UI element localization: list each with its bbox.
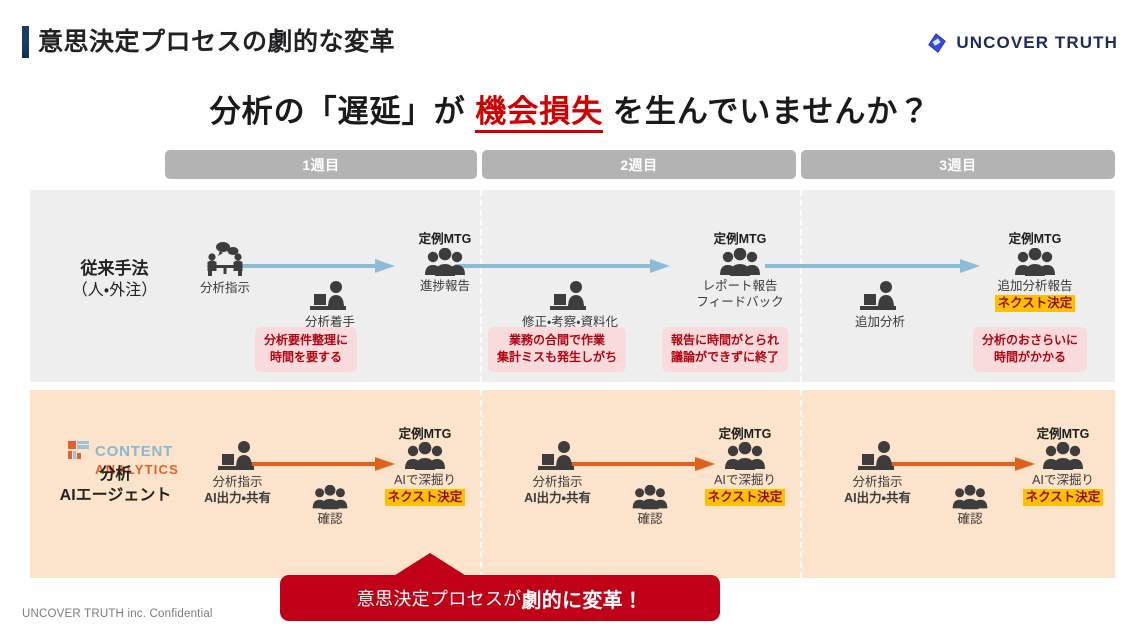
legacy-node-7-mtg: 定例MTG bbox=[970, 228, 1100, 247]
ai-node-9-caption: AIで深掘り bbox=[998, 472, 1128, 488]
person-laptop-icon bbox=[310, 280, 350, 314]
ai-node-3-mtg: 定例MTG bbox=[360, 423, 490, 442]
meeting-discussion-icon bbox=[203, 240, 247, 280]
headline-part1: 分析の「遅延」が bbox=[210, 94, 476, 129]
title-accent-bar bbox=[22, 26, 29, 58]
legacy-node-3: 進捗報告 bbox=[385, 248, 505, 294]
conclusion-ribbon: 意思決定プロセスが劇的に変革！ bbox=[280, 549, 720, 621]
ai-row-label: 分析 AIエージェント bbox=[38, 464, 193, 506]
legacy-node-3-mtg: 定例MTG bbox=[385, 228, 505, 247]
people-group-icon bbox=[310, 485, 350, 511]
ai-node-6: AIで深掘り ネクスト決定 bbox=[680, 442, 810, 506]
ai-node-4-caption-2: AI出力・共有 bbox=[500, 490, 615, 506]
ai-label-line2: AIエージェント bbox=[38, 485, 193, 506]
legacy-node-6: 追加分析 bbox=[825, 280, 935, 330]
ai-node-8-caption: 確認 bbox=[925, 511, 1015, 527]
legacy-node-3-caption: 進捗報告 bbox=[385, 278, 505, 294]
week-header-1: 1週目 bbox=[165, 150, 477, 179]
legacy-node-7-caption: 追加分析報告 bbox=[970, 278, 1100, 294]
ai-node-7-caption-1: 分析指示 bbox=[820, 474, 935, 490]
content-analytics-logo-icon bbox=[68, 440, 90, 462]
headline-part2: を生んでいませんか？ bbox=[603, 94, 930, 129]
legacy-node-4: 修正・考察・資料化 bbox=[500, 280, 640, 330]
legacy-node-5-mtg: 定例MTG bbox=[675, 228, 805, 247]
legacy-node-5-caption-1: レポート報告 bbox=[675, 278, 805, 294]
week-header-2: 2週目 bbox=[482, 150, 796, 179]
people-group-icon bbox=[402, 442, 448, 472]
legacy-node-6-caption: 追加分析 bbox=[825, 314, 935, 330]
ribbon-text-normal: 意思決定プロセスが bbox=[357, 585, 522, 611]
legacy-note-1: 分析要件整理に 時間を要する bbox=[255, 327, 357, 372]
ai-node-6-caption: AIで深掘り bbox=[680, 472, 810, 488]
ai-node-1: 分析指示 AI出力・共有 bbox=[180, 440, 295, 506]
week-header-3: 3週目 bbox=[801, 150, 1115, 179]
ribbon-text: 意思決定プロセスが劇的に変革！ bbox=[280, 575, 720, 621]
person-laptop-icon bbox=[860, 280, 900, 314]
brand-logo: UNCOVER TRUTH bbox=[926, 32, 1118, 54]
ai-node-7-caption-2: AI出力・共有 bbox=[820, 490, 935, 506]
ai-node-7: 分析指示 AI出力・共有 bbox=[820, 440, 935, 506]
ai-node-6-mtg: 定例MTG bbox=[680, 423, 810, 442]
legacy-node-5: レポート報告 フィードバック bbox=[675, 248, 805, 310]
legacy-note-2: 業務の合間で作業 集計ミスも発生しがち bbox=[488, 327, 626, 372]
legacy-note-2-line1: 業務の合間で作業 bbox=[497, 332, 617, 349]
footer-confidential: UNCOVER TRUTH inc. Confidential bbox=[22, 608, 213, 620]
legacy-note-3-line2: 議論ができずに終了 bbox=[671, 349, 779, 366]
legacy-node-5-caption-2: フィードバック bbox=[675, 294, 805, 310]
legacy-note-1-line1: 分析要件整理に bbox=[264, 332, 348, 349]
legacy-node-2: 分析着手 bbox=[275, 280, 385, 330]
legacy-note-4-line2: 時間がかかる bbox=[982, 349, 1078, 366]
legacy-node-1-caption: 分析指示 bbox=[180, 280, 270, 296]
ai-node-2-caption: 確認 bbox=[285, 511, 375, 527]
ai-node-3-badge: ネクスト決定 bbox=[385, 489, 466, 506]
ai-node-6-badge: ネクスト決定 bbox=[705, 489, 786, 506]
legacy-label-line2: （人・外注） bbox=[52, 280, 177, 301]
people-group-icon bbox=[722, 442, 768, 472]
legacy-process-row: 従来手法 （人・外注） bbox=[30, 190, 1115, 382]
headline-highlight: 機会損失 bbox=[475, 94, 603, 133]
ai-node-3: AIで深掘り ネクスト決定 bbox=[360, 442, 490, 506]
people-group-icon bbox=[717, 248, 763, 278]
ai-node-3-caption: AIで深掘り bbox=[360, 472, 490, 488]
people-group-icon bbox=[950, 485, 990, 511]
ai-node-4: 分析指示 AI出力・共有 bbox=[500, 440, 615, 506]
legacy-node-7: 追加分析報告 ネクスト決定 bbox=[970, 248, 1100, 312]
diamond-logo-icon bbox=[926, 32, 948, 54]
ai-node-5-caption: 確認 bbox=[605, 511, 695, 527]
legacy-row-label: 従来手法 （人・外注） bbox=[52, 258, 177, 302]
ai-node-9: AIで深掘り ネクスト決定 bbox=[998, 442, 1128, 506]
legacy-note-1-line2: 時間を要する bbox=[264, 349, 348, 366]
legacy-note-2-line2: 集計ミスも発生しがち bbox=[497, 349, 617, 366]
ca-logo-word-1: CONTENT bbox=[95, 443, 173, 460]
ai-node-4-caption-1: 分析指示 bbox=[500, 474, 615, 490]
person-laptop-icon bbox=[858, 440, 898, 474]
ai-node-1-caption-2: AI出力・共有 bbox=[180, 490, 295, 506]
person-laptop-icon bbox=[218, 440, 258, 474]
legacy-node-1: 分析指示 bbox=[180, 240, 270, 296]
person-laptop-icon bbox=[538, 440, 578, 474]
legacy-note-3-line1: 報告に時間がとられ bbox=[671, 332, 779, 349]
brand-name: UNCOVER TRUTH bbox=[956, 33, 1118, 53]
legacy-note-4: 分析のおさらいに 時間がかかる bbox=[973, 327, 1087, 372]
ai-node-9-badge: ネクスト決定 bbox=[1023, 489, 1104, 506]
legacy-note-3: 報告に時間がとられ 議論ができずに終了 bbox=[662, 327, 788, 372]
ribbon-text-bold: 劇的に変革！ bbox=[521, 584, 643, 613]
person-laptop-icon bbox=[550, 280, 590, 314]
people-group-icon bbox=[422, 248, 468, 278]
headline: 分析の「遅延」が 機会損失 を生んでいませんか？ bbox=[0, 86, 1140, 131]
legacy-label-line1: 従来手法 bbox=[52, 258, 177, 280]
people-group-icon bbox=[1012, 248, 1058, 278]
ai-node-1-caption-1: 分析指示 bbox=[180, 474, 295, 490]
page-title: 意思決定プロセスの劇的な変革 bbox=[38, 26, 395, 58]
legacy-note-4-line1: 分析のおさらいに bbox=[982, 332, 1078, 349]
ai-node-9-mtg: 定例MTG bbox=[998, 423, 1128, 442]
slide-canvas: 意思決定プロセスの劇的な変革 UNCOVER TRUTH 分析の「遅延」が 機会… bbox=[0, 0, 1140, 641]
people-group-icon bbox=[1040, 442, 1086, 472]
legacy-node-7-badge: ネクスト決定 bbox=[995, 295, 1076, 312]
ai-label-line1: 分析 bbox=[38, 464, 193, 485]
people-group-icon bbox=[630, 485, 670, 511]
